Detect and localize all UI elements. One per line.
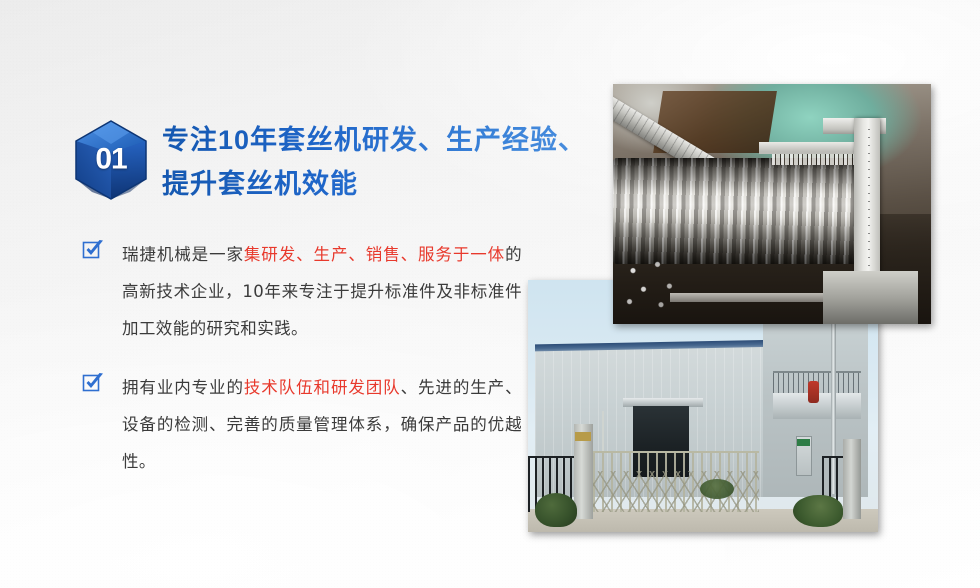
factory-gate-nameplate xyxy=(575,432,591,441)
factory-gate-post-right xyxy=(843,439,861,520)
list-item: 拥有业内专业的技术队伍和研发团队、先进的生产、设备的检测、完善的质量管理体系，确… xyxy=(82,369,522,480)
factory-shrub-right xyxy=(793,495,843,527)
checkbox-checked-icon xyxy=(82,372,104,394)
feature-banner: 01 专注10年套丝机研发、生产经验、 提升套丝机效能 瑞捷机械是一家集研发、生… xyxy=(0,0,980,588)
factory-shrub-left xyxy=(535,493,577,527)
list-item: 瑞捷机械是一家集研发、生产、销售、服务于一体的高新技术企业，10年来专注于提升标… xyxy=(82,236,522,347)
title-line-2: 提升套丝机效能 xyxy=(162,162,586,206)
checkbox-checked-icon xyxy=(82,239,104,261)
number-badge: 01 xyxy=(74,120,148,200)
threaded-rod xyxy=(613,158,864,264)
bullet-list: 瑞捷机械是一家集研发、生产、销售、服务于一体的高新技术企业，10年来专注于提升标… xyxy=(82,236,522,502)
heading-row: 01 专注10年套丝机研发、生产经验、 提升套丝机效能 xyxy=(74,116,586,206)
factory-shrub-center xyxy=(700,479,734,499)
bullet-1-seg-2-highlight: 集研发、生产、销售、服务于一体 xyxy=(244,245,505,264)
thread-crest-silhouette xyxy=(772,154,861,165)
bullet-2-seg-1: 拥有业内专业的 xyxy=(122,378,244,397)
caliper-base-block xyxy=(823,271,918,324)
title-block: 专注10年套丝机研发、生产经验、 提升套丝机效能 xyxy=(162,116,586,206)
content-column: 01 专注10年套丝机研发、生产经验、 提升套丝机效能 瑞捷机械是一家集研发、生… xyxy=(0,0,560,588)
bullet-1-seg-1: 瑞捷机械是一家 xyxy=(122,245,244,264)
factory-red-fixture xyxy=(808,381,819,403)
badge-number-text: 01 xyxy=(74,142,148,176)
thread-scene xyxy=(613,84,931,324)
title-line-1: 专注10年套丝机研发、生产经验、 xyxy=(162,118,586,162)
factory-retractable-gate xyxy=(584,451,759,511)
bullet-2-seg-2-highlight: 技术队伍和研发团队 xyxy=(244,378,401,397)
bullet-text-1: 瑞捷机械是一家集研发、生产、销售、服务于一体的高新技术企业，10年来专注于提升标… xyxy=(122,236,522,347)
bullet-text-2: 拥有业内专业的技术队伍和研发团队、先进的生产、设备的检测、完善的质量管理体系，确… xyxy=(122,369,522,480)
coolant-splash xyxy=(619,252,689,314)
factory-exit-sign xyxy=(797,439,810,446)
threaded-rod-caliper-photo xyxy=(613,84,931,324)
